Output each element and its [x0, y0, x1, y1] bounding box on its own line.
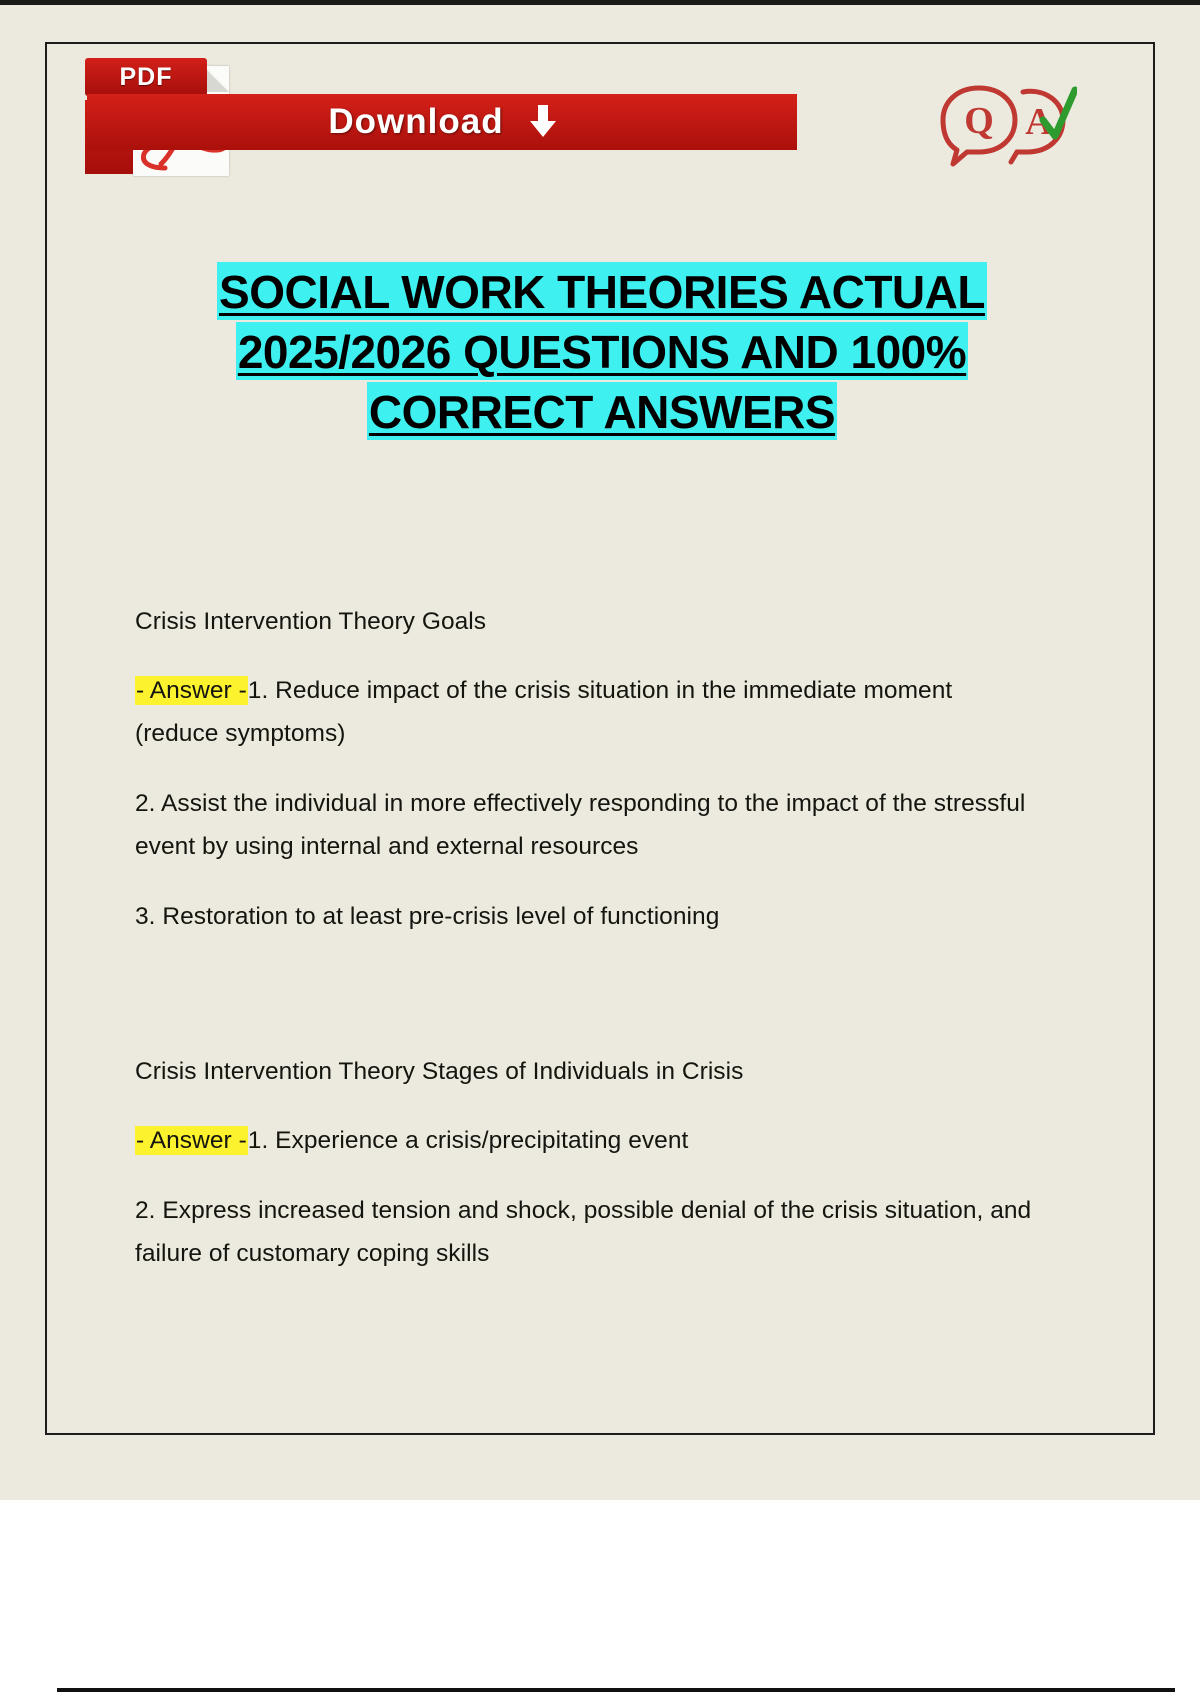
- qa-letter-q: Q: [964, 100, 994, 142]
- answer-text: - Answer -1. Experience a crisis/precipi…: [135, 1119, 1035, 1162]
- question-text: Crisis Intervention Theory Stages of Ind…: [135, 1050, 1035, 1093]
- answer-extra-line: 2. Express increased tension and shock, …: [135, 1189, 1035, 1275]
- download-label: Download: [328, 102, 503, 142]
- page-header: PDF Download Q A: [47, 44, 1157, 194]
- bottom-divider-rule: [57, 1688, 1175, 1692]
- pdf-page: PDF Download Q A: [45, 42, 1155, 1435]
- answer-text: - Answer -1. Reduce impact of the crisis…: [135, 669, 1035, 755]
- title-line-2-text: 2025/2026 QUESTIONS AND 100%: [236, 322, 968, 380]
- answer-tag-badge: - Answer -: [135, 676, 248, 705]
- download-arrow-icon: [530, 105, 556, 139]
- title-line-1-text: SOCIAL WORK THEORIES ACTUAL: [217, 262, 987, 320]
- title-line-3: CORRECT ANSWERS: [47, 389, 1157, 435]
- qa-letter-a: A: [1025, 101, 1053, 143]
- document-body: Crisis Intervention Theory Goals - Answe…: [135, 600, 1035, 1302]
- download-button[interactable]: Download: [87, 94, 797, 150]
- answer-body: 1. Experience a crisis/precipitating eve…: [248, 1127, 689, 1154]
- answer-extra-line: 3. Restoration to at least pre-crisis le…: [135, 895, 1035, 938]
- title-line-1: SOCIAL WORK THEORIES ACTUAL: [47, 269, 1157, 315]
- title-line-3-text: CORRECT ANSWERS: [367, 382, 837, 440]
- answer-tag-badge: - Answer -: [135, 1126, 248, 1155]
- bottom-white-area: [0, 1500, 1200, 1700]
- top-divider-rule: [0, 0, 1200, 5]
- answer-extra-line: 2. Assist the individual in more effecti…: [135, 782, 1035, 868]
- qa-logo: Q A: [927, 76, 1077, 176]
- document-canvas: PDF Download Q A: [0, 0, 1200, 1500]
- document-title: SOCIAL WORK THEORIES ACTUAL 2025/2026 QU…: [47, 269, 1157, 449]
- answer-body: 1. Reduce impact of the crisis situation…: [135, 677, 952, 747]
- pdf-badge: PDF: [85, 58, 207, 96]
- title-line-2: 2025/2026 QUESTIONS AND 100%: [47, 329, 1157, 375]
- question-text: Crisis Intervention Theory Goals: [135, 600, 1035, 643]
